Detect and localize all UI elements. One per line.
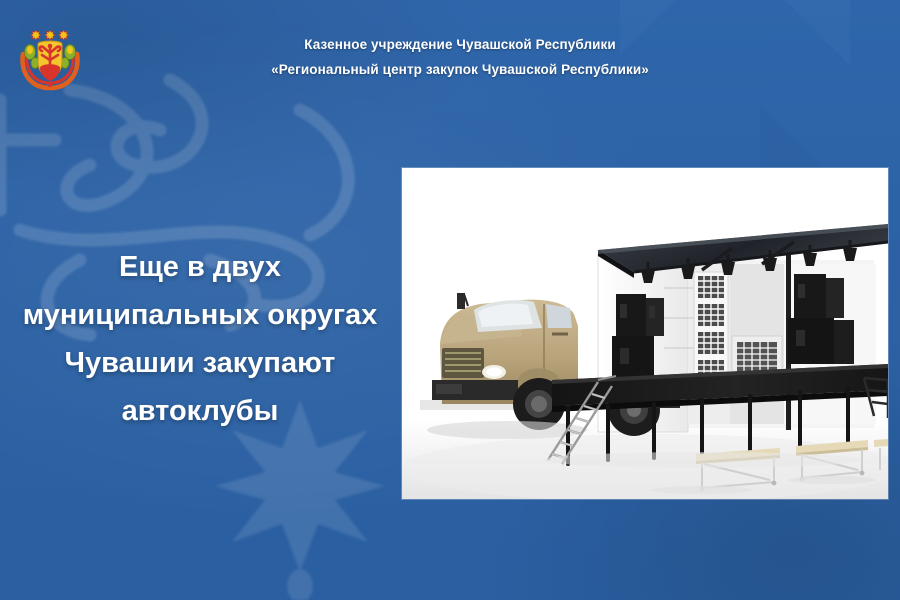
organization-header: Казенное учреждение Чувашской Республики… <box>150 32 770 82</box>
organization-header-line-1: Казенное учреждение Чувашской Республики <box>150 32 770 57</box>
headline: Еще в двух муниципальных округах Чувашии… <box>0 243 400 435</box>
organization-header-line-2: «Региональный центр закупок Чувашской Ре… <box>150 57 770 82</box>
mobile-stage-truck-photo <box>402 168 888 499</box>
headline-line-1: Еще в двух <box>0 243 400 291</box>
photo-illustration <box>402 168 888 499</box>
chuvash-coat-of-arms-icon <box>14 22 86 94</box>
headline-line-2: муниципальных округах <box>0 291 400 339</box>
presentation-slide: ЧУВАШ <box>0 0 900 600</box>
headline-line-3: Чувашии закупают <box>0 339 400 387</box>
headline-line-4: автоклубы <box>0 387 400 435</box>
